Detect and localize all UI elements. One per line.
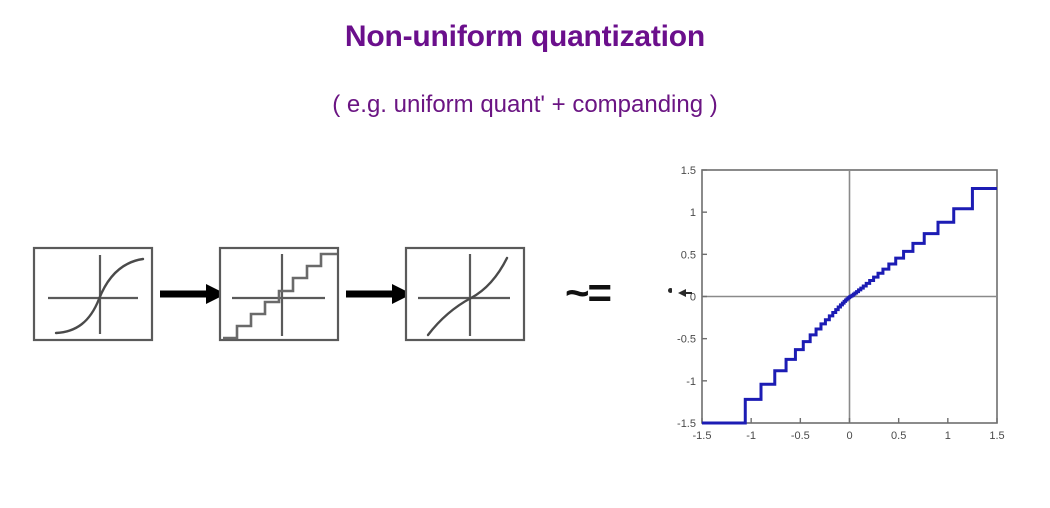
y-tick-label: -0.5 (677, 334, 696, 346)
x-tick-label: -0.5 (791, 430, 810, 442)
y-tick-label: -1 (686, 376, 696, 388)
slide-canvas: Non-uniform quantization ( e.g. uniform … (0, 0, 1050, 508)
block-uniform-quantizer (220, 248, 338, 340)
arrow-1 (160, 284, 226, 304)
approximately-equal-symbol: ~= (565, 272, 610, 314)
quantizer-transfer-chart: -1.5-1-0.500.511.5-1.5-1-0.500.511.5 (672, 150, 1017, 455)
arrow-2 (346, 284, 412, 304)
x-tick-label: 1 (945, 430, 951, 442)
block-compressor (34, 248, 152, 340)
y-tick-label: 1.5 (681, 165, 696, 177)
x-tick-label: -1 (746, 430, 756, 442)
y-tick-label: 1 (690, 207, 696, 219)
y-tick-label: 0.5 (681, 249, 696, 261)
x-tick-label: 0 (846, 430, 852, 442)
x-tick-label: 0.5 (891, 430, 906, 442)
page-title: Non-uniform quantization (0, 20, 1050, 54)
block-expander (406, 248, 524, 340)
y-tick-label: -1.5 (677, 418, 696, 430)
x-tick-label: -1.5 (693, 430, 712, 442)
x-tick-label: 1.5 (989, 430, 1004, 442)
page-subtitle: ( e.g. uniform quant' + companding ) (0, 91, 1050, 119)
block-diagram (20, 230, 550, 360)
